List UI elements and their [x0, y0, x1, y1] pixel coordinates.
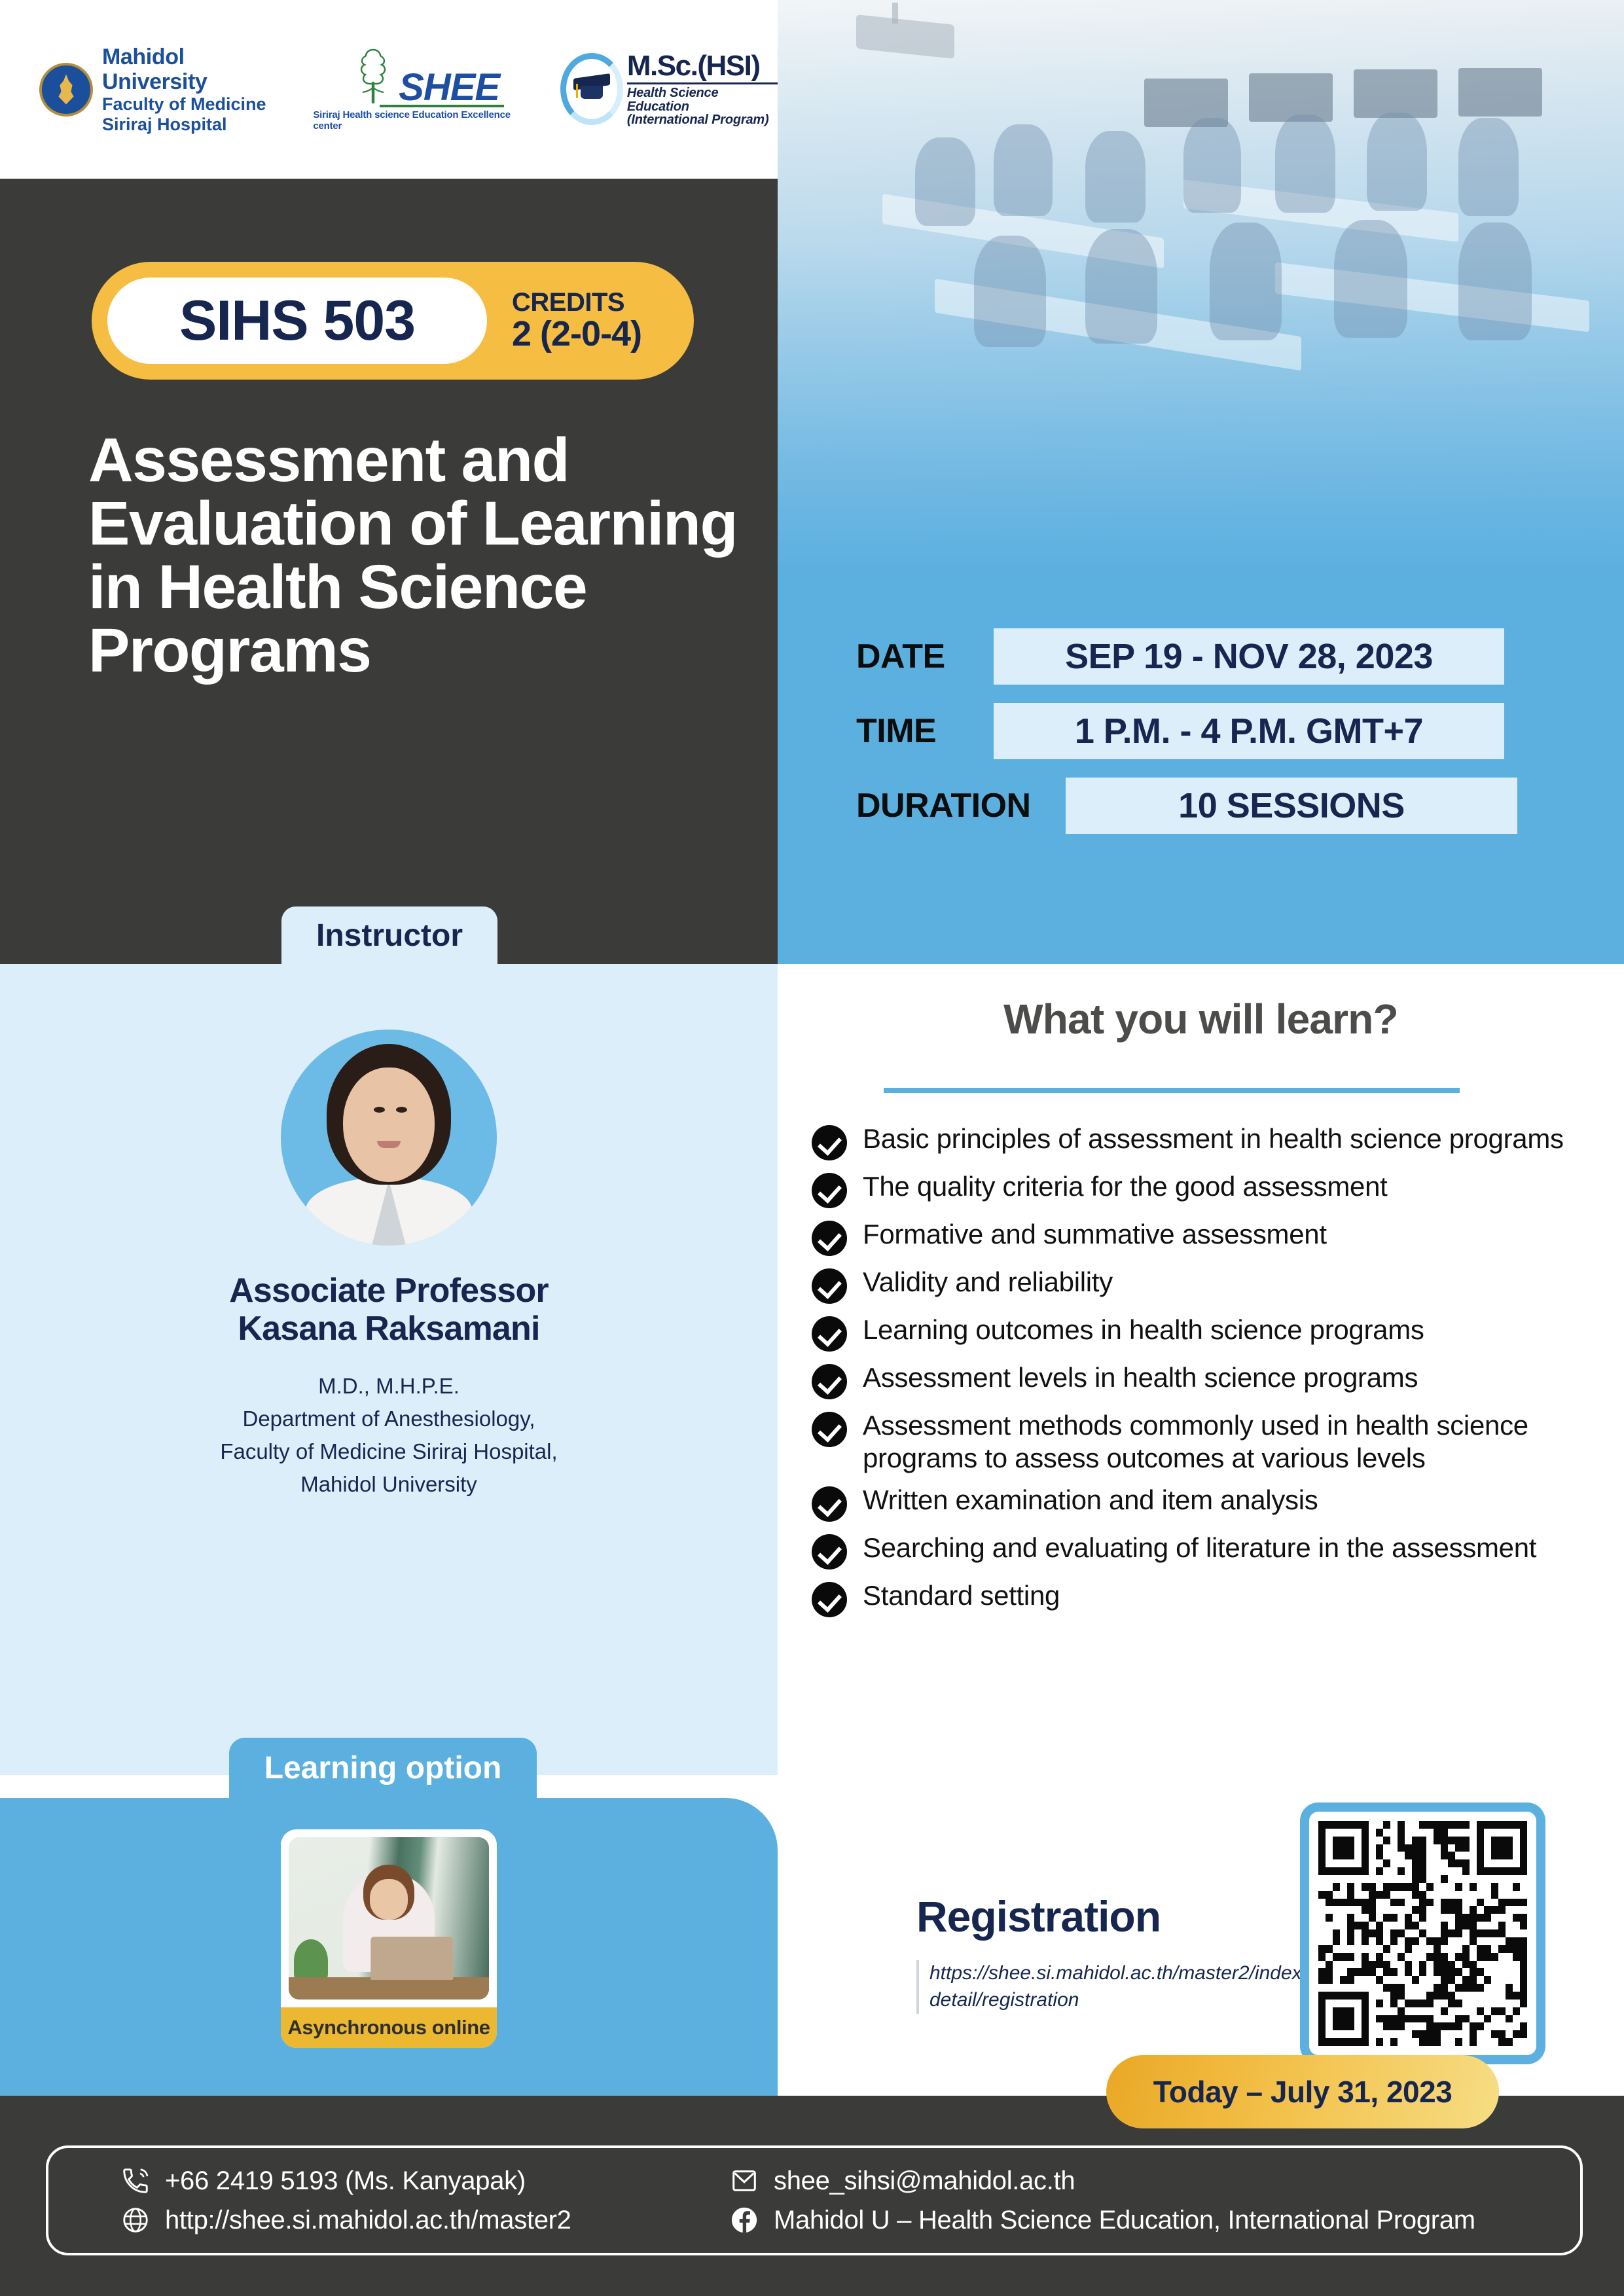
check-icon — [812, 1412, 847, 1447]
mu-logo-line2: Faculty of Medicine — [102, 94, 289, 114]
mahidol-seal-icon — [39, 63, 93, 117]
mu-logo-line3: Siriraj Hospital — [102, 115, 289, 134]
instructor-credential-3: Mahidol University — [0, 1468, 778, 1501]
poster-root: Mahidol University Faculty of Medicine S… — [0, 0, 1624, 2296]
course-title: Assessment and Evaluation of Learning in… — [88, 429, 743, 683]
instructor-avatar — [281, 1030, 497, 1246]
credits-label: CREDITS — [512, 289, 641, 316]
contact-facebook[interactable]: Mahidol U – Health Science Education, In… — [729, 2205, 1475, 2235]
logo-strip: Mahidol University Faculty of Medicine S… — [0, 0, 779, 179]
instructor-name: Associate Professor Kasana Raksamani — [0, 1272, 778, 1348]
check-icon — [812, 1268, 847, 1304]
schedule-value-date: SEP 19 - NOV 28, 2023 — [994, 628, 1504, 685]
schedule-value-time: 1 P.M. - 4 P.M. GMT+7 — [994, 703, 1504, 759]
mahidol-university-logo: Mahidol University Faculty of Medicine S… — [39, 45, 289, 134]
msc-title: M.Sc.(HSI) — [627, 52, 779, 81]
contact-phone: +66 2419 5193 (Ms. Kanyapak) — [120, 2166, 710, 2196]
schedule-label-date: DATE — [856, 637, 994, 676]
list-item-label: Written examination and item analysis — [863, 1484, 1318, 1516]
instructor-credential-0: M.D., M.H.P.E. — [0, 1370, 778, 1403]
list-item-label: Assessment levels in health science prog… — [863, 1361, 1418, 1394]
instructor-name-line2: Kasana Raksamani — [0, 1310, 778, 1348]
learning-option-tag-label: Asynchronous online — [287, 2016, 490, 2039]
check-icon — [812, 1316, 847, 1352]
check-icon — [812, 1221, 847, 1256]
shee-logo: SHEE Siriraj Health science Education Ex… — [313, 47, 537, 132]
schedule-row-duration: DURATION 10 SESSIONS — [856, 778, 1563, 834]
shee-subtitle: Siriraj Health science Education Excelle… — [313, 109, 537, 132]
mu-logo-line1: Mahidol University — [102, 45, 289, 94]
shee-wordmark: SHEE — [399, 72, 499, 103]
contact-email-text: shee_sihsi@mahidol.ac.th — [774, 2166, 1075, 2196]
schedule-value-duration: 10 SESSIONS — [1066, 778, 1517, 834]
deadline-badge-label: Today – July 31, 2023 — [1153, 2074, 1453, 2109]
list-item: Formative and summative assessment — [812, 1218, 1617, 1256]
learning-option-tab-label: Learning option — [264, 1750, 502, 1786]
envelope-icon — [729, 2166, 759, 2196]
classroom-photo — [778, 0, 1624, 576]
check-icon — [812, 1173, 847, 1208]
list-item-label: The quality criteria for the good assess… — [863, 1170, 1388, 1203]
list-item-label: Validity and reliability — [863, 1266, 1113, 1299]
instructor-credential-2: Faculty of Medicine Siriraj Hospital, — [0, 1435, 778, 1468]
check-icon — [812, 1364, 847, 1399]
graduation-cap-icon — [573, 76, 610, 102]
schedule-label-time: TIME — [856, 711, 994, 751]
list-item: Assessment levels in health science prog… — [812, 1361, 1617, 1399]
facebook-icon — [729, 2205, 759, 2235]
deadline-badge: Today – July 31, 2023 — [1106, 2055, 1499, 2128]
what-you-learn-list: Basic principles of assessment in health… — [812, 1122, 1617, 1627]
check-icon — [812, 1582, 847, 1617]
list-item-label: Searching and evaluating of literature i… — [863, 1532, 1536, 1564]
instructor-tab: Instructor — [281, 906, 497, 964]
msc-line2: Health Science Education — [627, 86, 779, 113]
schedule-panel: DATE SEP 19 - NOV 28, 2023 TIME 1 P.M. -… — [778, 563, 1624, 964]
learning-option-tag: Asynchronous online — [281, 2007, 497, 2048]
schedule-row-date: DATE SEP 19 - NOV 28, 2023 — [856, 628, 1563, 685]
learning-option-card: Asynchronous online — [281, 1829, 497, 2048]
list-item: Standard setting — [812, 1579, 1617, 1617]
instructor-name-line1: Associate Professor — [0, 1272, 778, 1310]
phone-icon — [120, 2166, 151, 2196]
msc-line3: (International Program) — [627, 113, 779, 126]
check-icon — [812, 1125, 847, 1160]
list-item: Learning outcomes in health science prog… — [812, 1314, 1617, 1352]
list-item-label: Learning outcomes in health science prog… — [863, 1314, 1424, 1346]
contact-website[interactable]: http://shee.si.mahidol.ac.th/master2 — [120, 2205, 710, 2235]
contact-email[interactable]: shee_sihsi@mahidol.ac.th — [729, 2166, 1475, 2196]
schedule-label-duration: DURATION — [856, 786, 1066, 825]
course-code-badge: SIHS 503 CREDITS 2 (2-0-4) — [92, 262, 694, 380]
what-you-learn-divider — [884, 1088, 1460, 1093]
registration-url[interactable]: https://shee.si.mahidol.ac.th/master2/in… — [916, 1960, 1322, 2014]
list-item-label: Standard setting — [863, 1579, 1060, 1612]
list-item: Assessment methods commonly used in heal… — [812, 1409, 1617, 1474]
footer: Today – July 31, 2023 +66 2419 5193 (Ms.… — [0, 2096, 1624, 2296]
check-icon — [812, 1534, 847, 1570]
learning-option-panel: Asynchronous online — [0, 1798, 778, 2096]
course-code-text: SIHS 503 — [179, 289, 415, 353]
what-you-learn-heading: What you will learn? — [778, 995, 1624, 1043]
check-icon — [812, 1486, 847, 1522]
registration-qr-code[interactable] — [1300, 1803, 1545, 2064]
instructor-panel: Associate Professor Kasana Raksamani M.D… — [0, 964, 778, 1775]
contact-website-text: http://shee.si.mahidol.ac.th/master2 — [165, 2206, 571, 2235]
tree-icon — [350, 47, 396, 103]
online-learner-photo — [289, 1837, 489, 2000]
globe-icon — [120, 2205, 151, 2235]
contact-facebook-text: Mahidol U – Health Science Education, In… — [774, 2206, 1475, 2235]
list-item: Written examination and item analysis — [812, 1484, 1617, 1522]
list-item: Searching and evaluating of literature i… — [812, 1532, 1617, 1570]
list-item: Basic principles of assessment in health… — [812, 1122, 1617, 1160]
instructor-credential-1: Department of Anesthesiology, — [0, 1403, 778, 1435]
instructor-credentials: M.D., M.H.P.E. Department of Anesthesiol… — [0, 1370, 778, 1501]
list-item: Validity and reliability — [812, 1266, 1617, 1304]
msc-ring-icon — [560, 53, 623, 125]
course-code-inner: SIHS 503 — [107, 278, 487, 364]
qr-code-matrix — [1318, 1821, 1527, 2046]
list-item: The quality criteria for the good assess… — [812, 1170, 1617, 1208]
registration-title: Registration — [916, 1892, 1161, 1941]
schedule-row-time: TIME 1 P.M. - 4 P.M. GMT+7 — [856, 703, 1563, 759]
instructor-tab-label: Instructor — [316, 918, 463, 954]
credits-value: 2 (2-0-4) — [512, 316, 641, 352]
learning-option-tab: Learning option — [229, 1738, 537, 1798]
contact-phone-text: +66 2419 5193 (Ms. Kanyapak) — [165, 2166, 526, 2196]
shee-underline — [380, 105, 504, 107]
list-item-label: Basic principles of assessment in health… — [863, 1122, 1564, 1155]
list-item-label: Assessment methods commonly used in heal… — [863, 1409, 1617, 1474]
contact-box: +66 2419 5193 (Ms. Kanyapak) http://shee… — [46, 2145, 1583, 2255]
list-item-label: Formative and summative assessment — [863, 1218, 1327, 1251]
msc-hsi-logo: M.Sc.(HSI) Health Science Education (Int… — [560, 52, 779, 126]
